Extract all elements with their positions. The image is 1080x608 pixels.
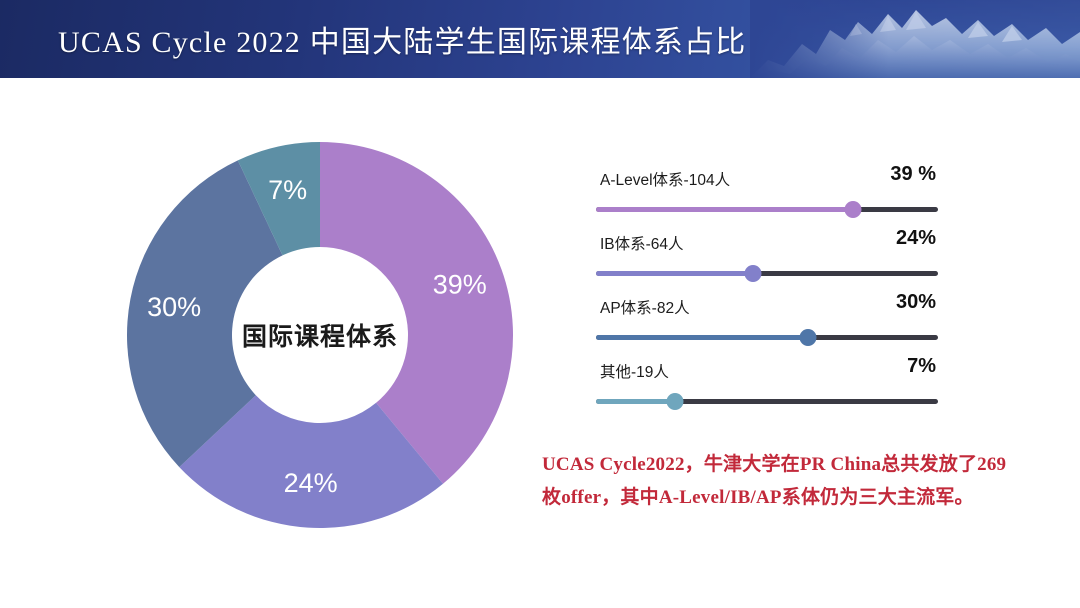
- legend-row: 其他-19人 7%: [596, 355, 938, 419]
- legend-item-label: A-Level体系-104人: [600, 168, 730, 190]
- legend-row: A-Level体系-104人 39 %: [596, 163, 938, 227]
- slider-track-fill: [596, 335, 808, 340]
- legend-row-header: 其他-19人 7%: [596, 355, 938, 385]
- legend-item-percent: 39 %: [890, 163, 936, 186]
- slider-thumb[interactable]: [666, 393, 683, 410]
- legend-item-percent: 7%: [907, 355, 936, 378]
- legend-row: AP体系-82人 30%: [596, 291, 938, 355]
- slider-thumb[interactable]: [800, 329, 817, 346]
- legend-item-percent: 24%: [896, 227, 936, 250]
- slider-track-fill: [596, 271, 753, 276]
- legend-row-header: IB体系-64人 24%: [596, 227, 938, 257]
- slider-a-level[interactable]: [596, 201, 938, 217]
- header-banner: UCAS Cycle 2022 中国大陆学生国际课程体系占比: [0, 0, 1080, 78]
- slider-track-fill: [596, 207, 853, 212]
- donut-label-other: 7%: [268, 175, 307, 205]
- legend-row: IB体系-64人 24%: [596, 227, 938, 291]
- slider-track-fill: [596, 399, 675, 404]
- snow-mountain-image: [750, 0, 1080, 78]
- legend-slider-list: A-Level体系-104人 39 % IB体系-64人 24% AP体系-82…: [596, 163, 938, 419]
- legend-row-header: A-Level体系-104人 39 %: [596, 163, 938, 193]
- slider-ap[interactable]: [596, 329, 938, 345]
- legend-item-label: AP体系-82人: [600, 296, 690, 318]
- slider-other[interactable]: [596, 393, 938, 409]
- legend-item-label: 其他-19人: [600, 360, 669, 382]
- legend-row-header: AP体系-82人 30%: [596, 291, 938, 321]
- donut-label-ib: 24%: [284, 468, 338, 498]
- page-title: UCAS Cycle 2022 中国大陆学生国际课程体系占比: [58, 0, 747, 78]
- donut-chart-svg: 39% 24% 30% 7%: [127, 142, 513, 528]
- donut-label-a-level: 39%: [433, 270, 487, 300]
- donut-label-ap: 30%: [147, 292, 201, 322]
- slider-thumb[interactable]: [844, 201, 861, 218]
- legend-item-percent: 30%: [896, 291, 936, 314]
- slider-thumb[interactable]: [745, 265, 762, 282]
- summary-caption: UCAS Cycle2022，牛津大学在PR China总共发放了269 枚of…: [542, 448, 1042, 514]
- caption-line-2: 枚offer，其中A-Level/IB/AP系体仍为三大主流军。: [542, 481, 1042, 514]
- caption-line-1: UCAS Cycle2022，牛津大学在PR China总共发放了269: [542, 448, 1042, 481]
- legend-item-label: IB体系-64人: [600, 232, 684, 254]
- slider-ib[interactable]: [596, 265, 938, 281]
- donut-chart: 39% 24% 30% 7% 国际课程体系: [127, 142, 513, 528]
